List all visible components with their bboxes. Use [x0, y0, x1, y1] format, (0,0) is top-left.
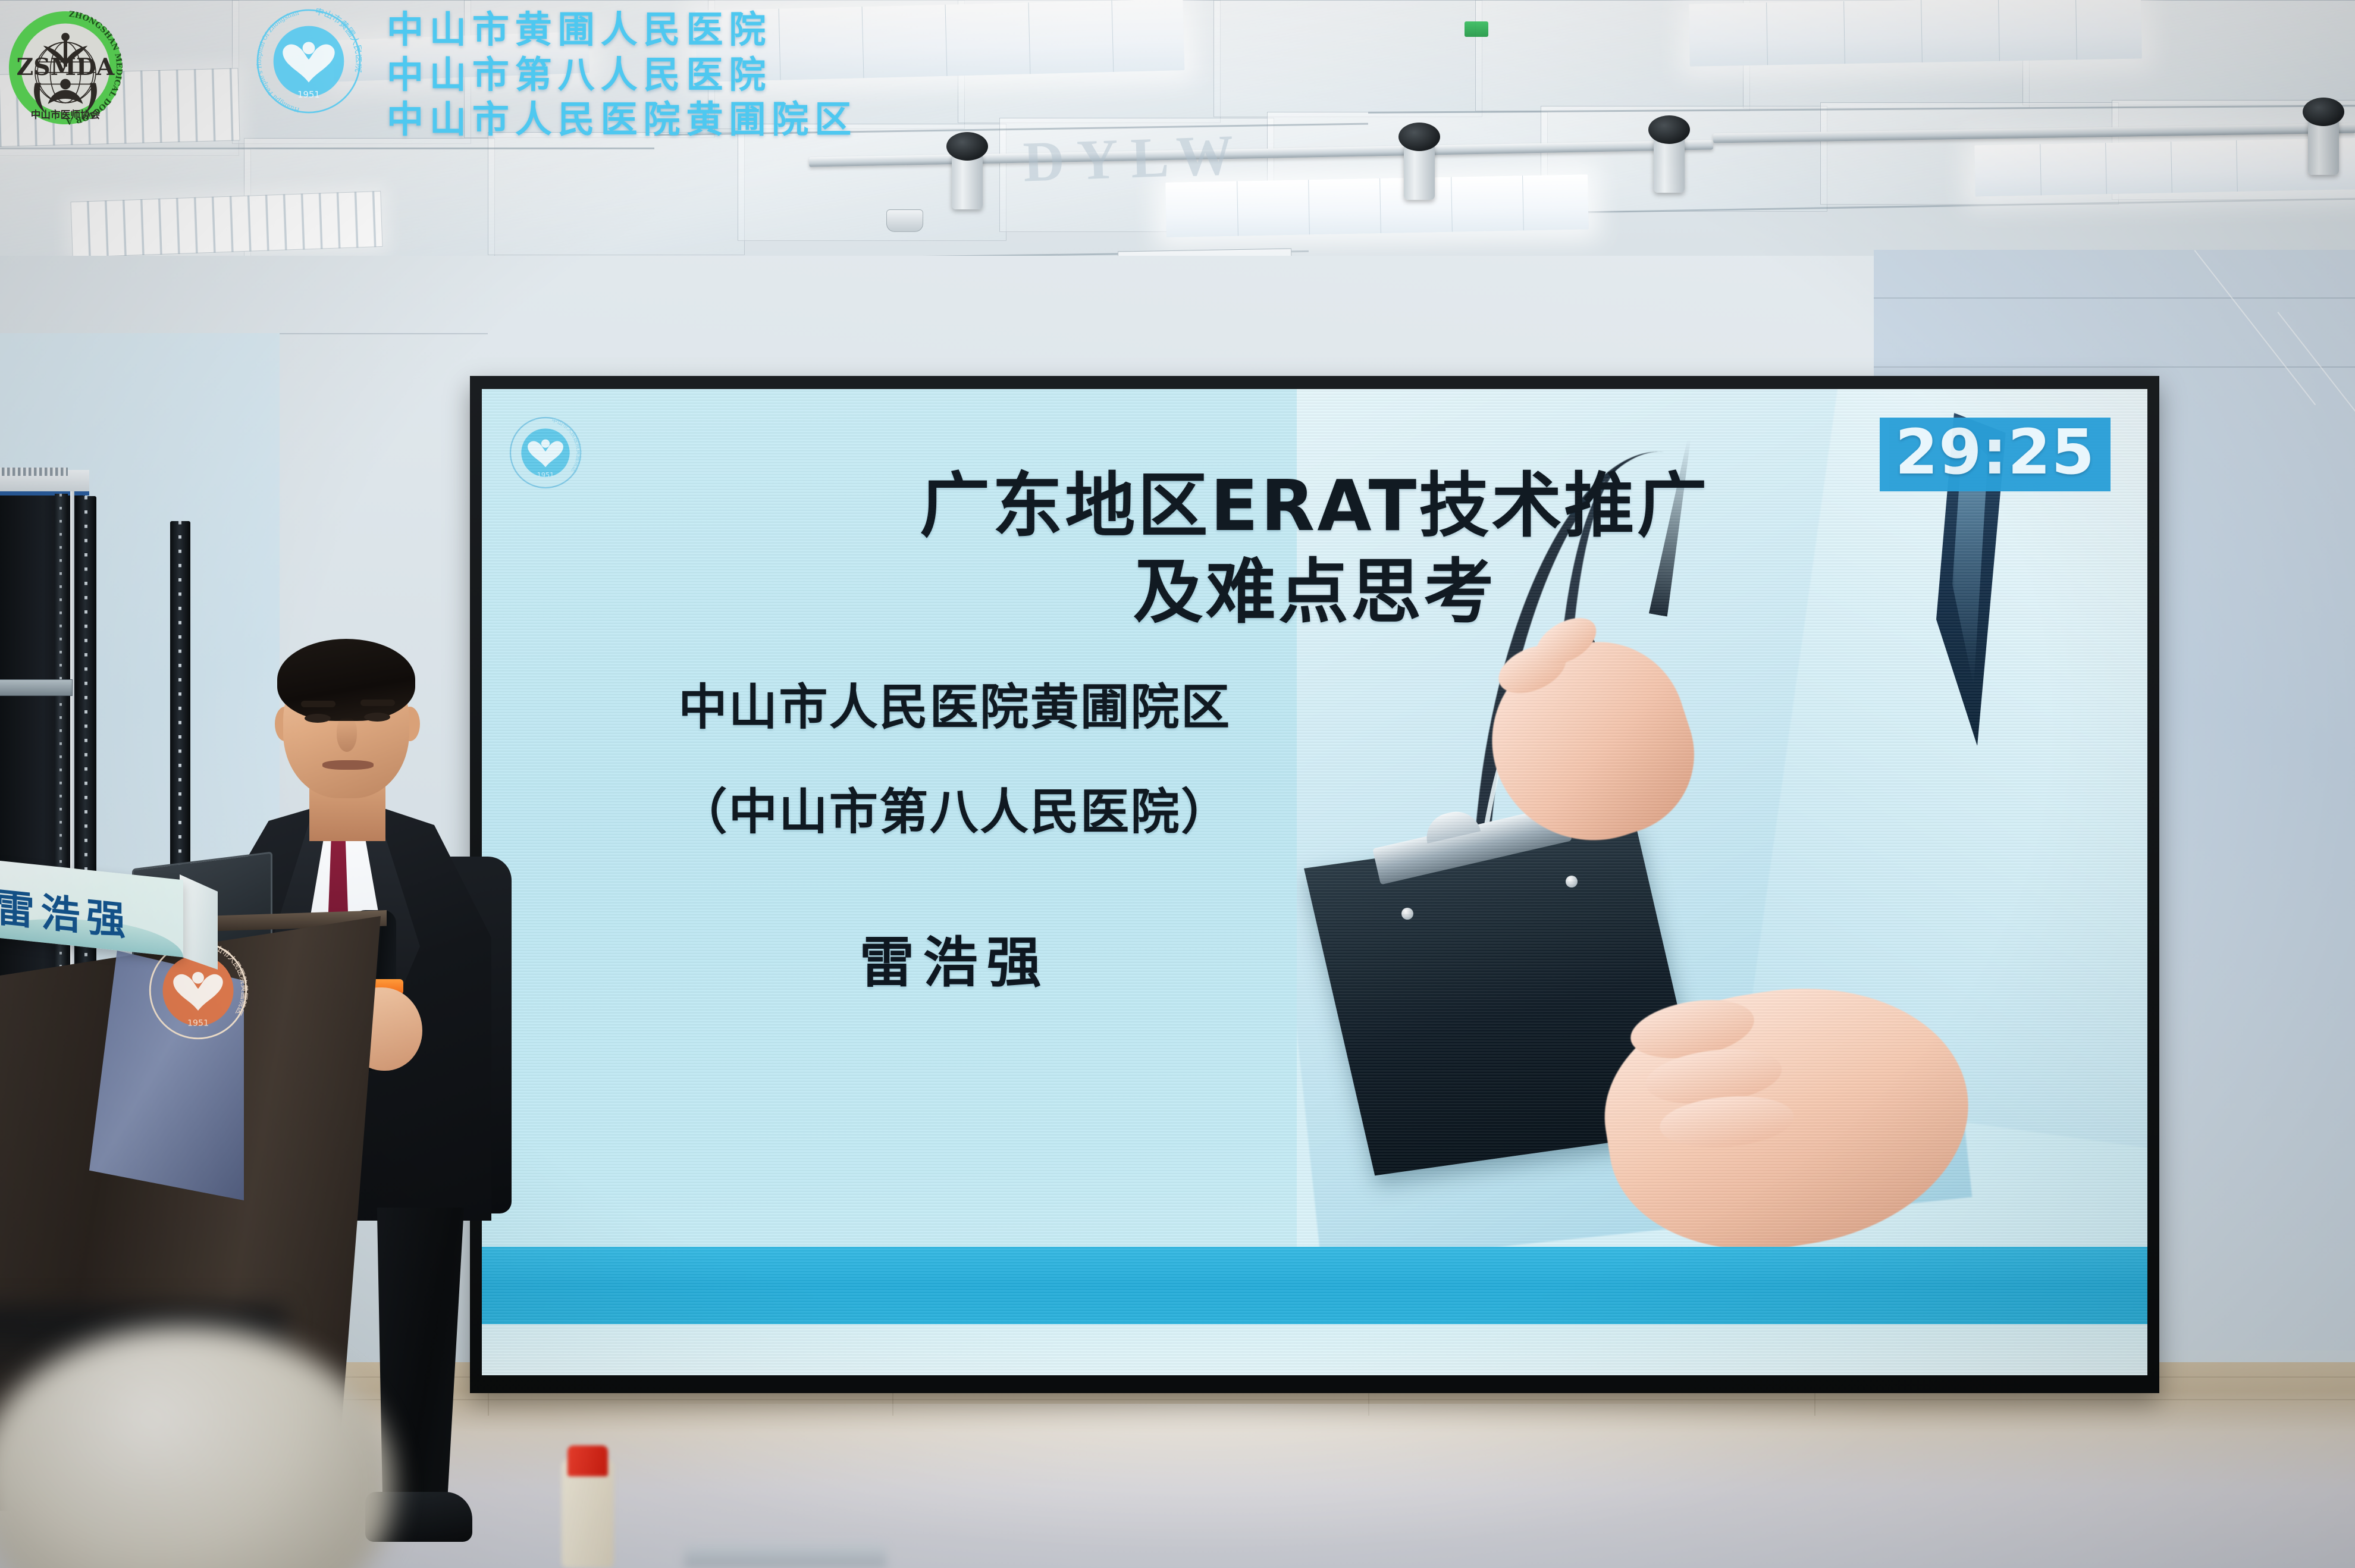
slide-presenter-name-text: 雷浩强	[860, 931, 1050, 995]
track-spotlight-icon-2	[1404, 143, 1435, 200]
slide-footer-band	[482, 1324, 2147, 1375]
recessed-light-panel-icon-2	[1689, 0, 2142, 67]
water-bottle-cap	[567, 1445, 608, 1476]
presentation-slide: 1951 中山市人民医院黄圃院区 29:25 广东地区ERAT技术推广 及难点思…	[482, 389, 2147, 1375]
slide-presenter-name: 雷浩强	[523, 918, 1386, 998]
air-conditioner-vent-icon-2	[71, 191, 383, 258]
foreground-chair-back	[684, 1544, 886, 1568]
conference-photo-scene: DYLW	[0, 0, 2355, 1568]
recessed-light-panel-icon-5	[333, 32, 589, 82]
countdown-timer: 29:25	[1880, 418, 2111, 491]
slide-photo	[1297, 389, 2147, 1375]
recessed-light-panel-icon	[695, 0, 1185, 82]
air-conditioner-vent-icon	[0, 68, 240, 147]
server-rack-shelf	[0, 679, 73, 696]
slide-subtitle-line-1: 中山市人民医院黄圃院区	[523, 680, 1386, 735]
speaker-mouth	[322, 760, 374, 770]
led-display-frame: 1951 中山市人民医院黄圃院区 29:25 广东地区ERAT技术推广 及难点思…	[470, 376, 2159, 1393]
hospital-seal-icon: 1951 中山市人民医院黄圃院区	[509, 416, 582, 489]
svg-text:1951: 1951	[187, 1019, 209, 1028]
ceiling-ghost-letters: DYLW	[1022, 121, 1247, 195]
server-rack-vent	[0, 468, 68, 476]
ceiling-sensor-icon	[886, 209, 923, 232]
slide-subtitle: 中山市人民医院黄圃院区 （中山市第八人民医院）	[523, 680, 1386, 840]
speaker-hair	[277, 639, 415, 721]
recessed-light-panel-icon-4	[1974, 138, 2355, 197]
floor-reflection	[535, 1404, 1904, 1553]
exit-sign-icon	[1465, 21, 1488, 37]
slide-subtitle-line-2: （中山市第八人民医院）	[523, 785, 1386, 840]
track-spotlight-icon	[952, 152, 983, 209]
svg-text:1951: 1951	[537, 472, 554, 479]
slide-accent-band	[482, 1247, 2147, 1324]
speaker-nose	[337, 717, 357, 752]
track-spotlight-icon-3	[1654, 136, 1685, 193]
track-spotlight-icon-4	[2308, 118, 2339, 175]
